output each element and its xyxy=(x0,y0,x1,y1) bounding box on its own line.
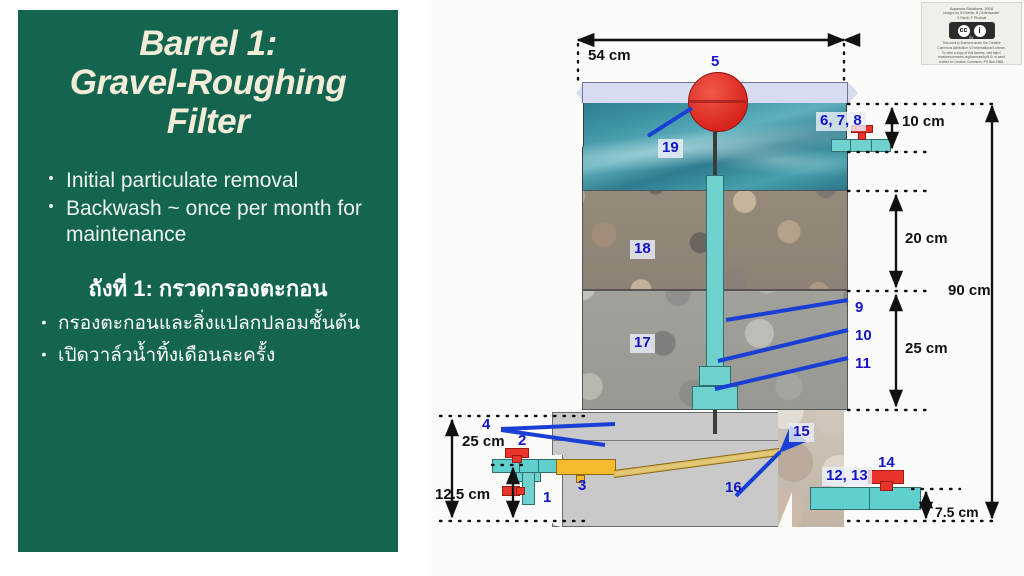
dim-label-outlet: 7.5 cm xyxy=(935,504,979,520)
riser-pipe xyxy=(706,175,724,393)
panel-title-line-2: Gravel-Roughing xyxy=(32,63,384,102)
creative-commons-badge-icon: cc i BY xyxy=(949,22,995,39)
bullet-text: Initial particulate removal xyxy=(66,168,388,194)
overflow-pipe-nipple xyxy=(871,139,891,152)
callout-2: 2 xyxy=(518,433,526,450)
bullet-text: กรองตะกอนและสิ่งแปลกปลอมชั้นต้น xyxy=(58,310,360,339)
riser-coupling-upper xyxy=(699,366,731,386)
barrel-taper-left xyxy=(576,103,584,147)
callout-1213: 12, 13 xyxy=(822,467,872,486)
callout-16: 16 xyxy=(725,480,742,497)
callout-19: 19 xyxy=(658,139,683,158)
dim-label-fine: 25 cm xyxy=(905,340,948,357)
bullet-text: เปิดวาล์วน้ำทิ้งเดือนละครั้ง xyxy=(58,342,275,371)
callout-9: 9 xyxy=(855,300,863,317)
dim-label-drain: 12.5 cm xyxy=(435,486,490,503)
dim-label-stand: 25 cm xyxy=(462,433,505,450)
dim-label-total: 90 cm xyxy=(948,282,991,299)
bullet-glyph: • xyxy=(36,196,66,219)
callout-15: 15 xyxy=(789,423,814,442)
callout-10: 10 xyxy=(855,328,872,345)
callout-17: 17 xyxy=(630,334,655,353)
barrel-lid-notch-right xyxy=(848,82,858,104)
dim-label-width-top: 54 cm xyxy=(588,47,631,64)
panel-bullet-list: • Initial particulate removal • Backwash… xyxy=(36,168,388,249)
dim-label-coarse: 20 cm xyxy=(905,230,948,247)
license-body-6: Mountain View, CA 94042, USA. xyxy=(925,65,1018,66)
outlet-valve-stem xyxy=(880,481,893,491)
callout-5: 5 xyxy=(711,54,719,71)
bullet-glyph: • xyxy=(36,168,66,191)
callout-4: 4 xyxy=(482,417,490,434)
stand-divider-line xyxy=(553,440,778,441)
license-line-3: G Fandi, P Phuboal xyxy=(925,16,1018,21)
overflow-valve-stem xyxy=(858,132,866,140)
outlet-pipe-left xyxy=(810,487,870,510)
list-item: • เปิดวาล์วน้ำทิ้งเดือนละครั้ง xyxy=(30,342,390,371)
cc-circle-icon: cc xyxy=(958,25,970,37)
panel-title-line-1: Barrel 1: xyxy=(32,24,384,63)
callout-11: 11 xyxy=(855,356,871,373)
bulkhead-fitting-yellow xyxy=(556,459,616,475)
barrel-diagram: Aqueous Solutions, 2016 Images by N Reen… xyxy=(430,0,1024,576)
license-body-2: Commons Attribution 4.0 International Li… xyxy=(925,46,1018,51)
panel-title: Barrel 1: Gravel-Roughing Filter xyxy=(32,24,384,142)
panel-thai-heading: ถังที่ 1: กรวดกรองตะกอน xyxy=(18,275,398,304)
list-item: • Backwash ~ once per month for maintena… xyxy=(36,196,388,249)
panel-title-line-3: Filter xyxy=(32,102,384,141)
callout-1: 1 xyxy=(543,490,551,507)
overflow-pipe-segment xyxy=(831,139,851,152)
drain-pipe-right xyxy=(538,459,558,473)
license-body-5: a letter to Creative Commons, PO Box 186… xyxy=(925,60,1018,65)
callout-18: 18 xyxy=(630,240,655,259)
cc-by-person-icon: i xyxy=(974,25,986,37)
drain-tee-body xyxy=(519,459,539,473)
overflow-valve-body xyxy=(850,139,872,152)
bullet-text: Backwash ~ once per month for maintenanc… xyxy=(66,196,388,249)
callout-3: 3 xyxy=(578,478,586,495)
drain-valve-stem-side xyxy=(516,487,525,495)
overflow-tee-assembly xyxy=(831,139,891,152)
drain-valve-stem-top xyxy=(512,455,522,463)
slide-root: Barrel 1: Gravel-Roughing Filter • Initi… xyxy=(0,0,1024,576)
outlet-valve-body xyxy=(869,487,921,510)
cc-badge-sublabel: BY xyxy=(949,36,995,40)
callout-678: 6, 7, 8 xyxy=(816,112,866,131)
bullet-glyph: • xyxy=(30,310,58,335)
list-item: • Initial particulate removal xyxy=(36,168,388,194)
callout-14: 14 xyxy=(878,455,895,472)
riser-coupling-lower xyxy=(692,386,738,410)
float-ball-band xyxy=(688,100,746,103)
list-item: • กรองตะกอนและสิ่งแปลกปลอมชั้นต้น xyxy=(30,310,390,339)
bullet-glyph: • xyxy=(30,342,58,367)
dim-label-freeboard: 10 cm xyxy=(902,113,945,130)
panel-thai-bullet-list: • กรองตะกอนและสิ่งแปลกปลอมชั้นต้น • เปิด… xyxy=(30,310,390,371)
license-attribution-box: Aqueous Solutions, 2016 Images by N Reen… xyxy=(921,2,1022,65)
barrel-info-panel: Barrel 1: Gravel-Roughing Filter • Initi… xyxy=(18,10,398,552)
